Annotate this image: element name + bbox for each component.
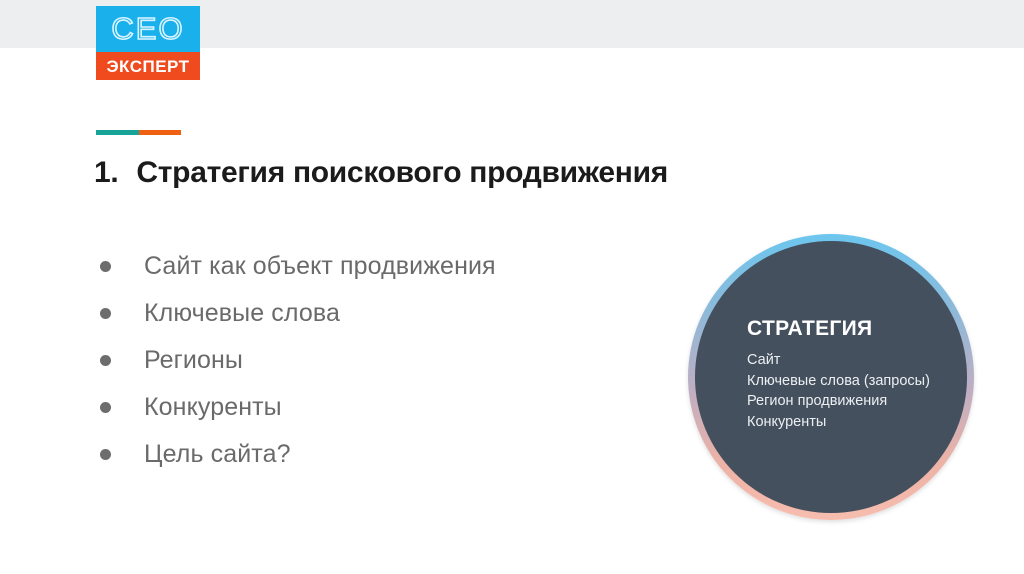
- bullet-list: Сайт как объект продвижения Ключевые сло…: [100, 243, 680, 478]
- bullet-dot-icon: [100, 402, 111, 413]
- circle-line: Регион продвижения: [747, 391, 967, 412]
- logo-bottom-text: ЭКСПЕРТ: [106, 58, 189, 75]
- logo-top-block: CEO: [96, 6, 200, 52]
- circle-line: Конкуренты: [747, 412, 967, 433]
- bullet-dot-icon: [100, 308, 111, 319]
- list-item: Цель сайта?: [100, 431, 680, 478]
- circle-line: Ключевые слова (запросы): [747, 371, 967, 392]
- list-item: Регионы: [100, 337, 680, 384]
- list-item: Конкуренты: [100, 384, 680, 431]
- page-title: 1. Стратегия поискового продвижения: [94, 156, 668, 190]
- list-item-label: Цель сайта?: [144, 440, 291, 469]
- circle-content: СТРАТЕГИЯ Сайт Ключевые слова (запросы) …: [747, 317, 967, 432]
- circle-face: СТРАТЕГИЯ Сайт Ключевые слова (запросы) …: [695, 241, 967, 513]
- accent-bar-segment-orange: [139, 130, 182, 135]
- slide-canvas: CEO ЭКСПЕРТ 1. Стратегия поискового прод…: [0, 0, 1024, 574]
- circle-title: СТРАТЕГИЯ: [747, 317, 967, 340]
- circle-line: Сайт: [747, 350, 967, 371]
- accent-bar: [96, 130, 181, 135]
- list-item-label: Ключевые слова: [144, 299, 340, 328]
- page-title-number: 1.: [94, 156, 118, 190]
- logo-top-text: CEO: [111, 13, 184, 46]
- brand-logo[interactable]: CEO ЭКСПЕРТ: [96, 6, 200, 80]
- strategy-circle-graphic: СТРАТЕГИЯ Сайт Ключевые слова (запросы) …: [688, 234, 974, 520]
- accent-bar-segment-teal: [96, 130, 139, 135]
- list-item-label: Сайт как объект продвижения: [144, 252, 496, 281]
- bullet-dot-icon: [100, 449, 111, 460]
- logo-bottom-block: ЭКСПЕРТ: [96, 52, 200, 80]
- bullet-dot-icon: [100, 355, 111, 366]
- list-item: Сайт как объект продвижения: [100, 243, 680, 290]
- bullet-dot-icon: [100, 261, 111, 272]
- list-item: Ключевые слова: [100, 290, 680, 337]
- page-title-text: Стратегия поискового продвижения: [136, 156, 668, 190]
- list-item-label: Регионы: [144, 346, 243, 375]
- list-item-label: Конкуренты: [144, 393, 282, 422]
